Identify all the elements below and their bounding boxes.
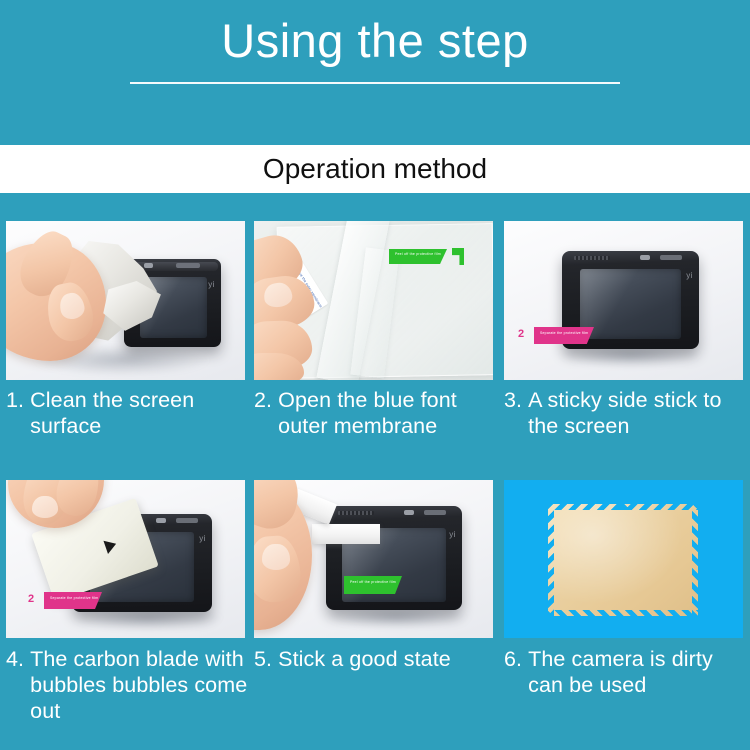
pink-tab-number: 2 [518, 329, 524, 340]
page-title: Using the step [0, 12, 750, 70]
pink-tab-number: 2 [28, 594, 34, 605]
step-3-stick-to-screen-photo: yi Separate the protective film 2 [504, 221, 743, 380]
steps-row-1: yi 1. Clean the scree [0, 193, 750, 455]
step-number-2: 2. [254, 387, 272, 413]
pink-pull-tab: Separate the protective film [534, 327, 594, 344]
step-text-6: The camera is dirty can be used [528, 646, 747, 698]
step-text-4: The carbon blade with bubbles bubbles co… [30, 646, 249, 724]
step-caption-2: 2. Open the blue font outer membrane [254, 387, 497, 439]
step-caption-4: 4. The carbon blade with bubbles bubbles… [6, 646, 249, 724]
step-6-cleaning-cloth-photo [504, 480, 743, 638]
step-number-5: 5. [254, 646, 272, 672]
step-4-squeegee-bubbles-photo: yi Separate the protective f [6, 480, 245, 638]
green-pull-tab: Peel off the protective film [344, 576, 402, 594]
hero-header: Using the step [0, 0, 750, 145]
step-1-clean-screen-photo: yi [6, 221, 245, 380]
subtitle-band: Operation method [0, 145, 750, 193]
pink-pull-tab: Separate the protective film [44, 592, 102, 609]
step-caption-5: 5. Stick a good state [254, 646, 497, 672]
step-2-open-membrane-photo: Peel off the protective film Remove the … [254, 221, 493, 380]
step-text-2: Open the blue font outer membrane [278, 387, 497, 439]
step-text-3: A sticky side stick to the screen [528, 387, 747, 439]
camera-body: yi [326, 506, 462, 610]
release-strip [312, 524, 380, 544]
step-text-1: Clean the screen surface [30, 387, 249, 439]
steps-row-2: yi Separate the protective f [0, 452, 750, 750]
green-pull-tab: Peel off the protective film [389, 249, 447, 264]
step-caption-3: 3. A sticky side stick to the screen [504, 387, 747, 439]
step-5-good-state-photo: yi Peel off the protective film [254, 480, 493, 638]
step-card-4: yi Separate the protective f [6, 452, 246, 750]
microfiber-cloth [548, 504, 698, 616]
step-caption-1: 1. Clean the screen surface [6, 387, 249, 439]
step-card-1: yi 1. Clean the scree [6, 193, 246, 455]
step-text-5: Stick a good state [278, 646, 497, 672]
step-card-3: yi Separate the protective film 2 3. A s… [504, 193, 744, 455]
title-divider [130, 82, 620, 84]
steps-grid: yi 1. Clean the scree [0, 193, 750, 750]
step-card-6: 6. The camera is dirty can be used [504, 452, 744, 750]
step-number-1: 1. [6, 387, 24, 413]
step-number-6: 6. [504, 646, 522, 672]
triangle-arrow-icon [103, 537, 118, 554]
step-card-2: Peel off the protective film Remove the … [254, 193, 494, 455]
infographic-page: Using the step Operation method [0, 0, 750, 750]
step-number-3: 3. [504, 387, 522, 413]
subtitle: Operation method [0, 145, 750, 193]
step-caption-6: 6. The camera is dirty can be used [504, 646, 747, 698]
step-card-5: yi Peel off the protective film [254, 452, 494, 750]
step-number-4: 4. [6, 646, 24, 672]
